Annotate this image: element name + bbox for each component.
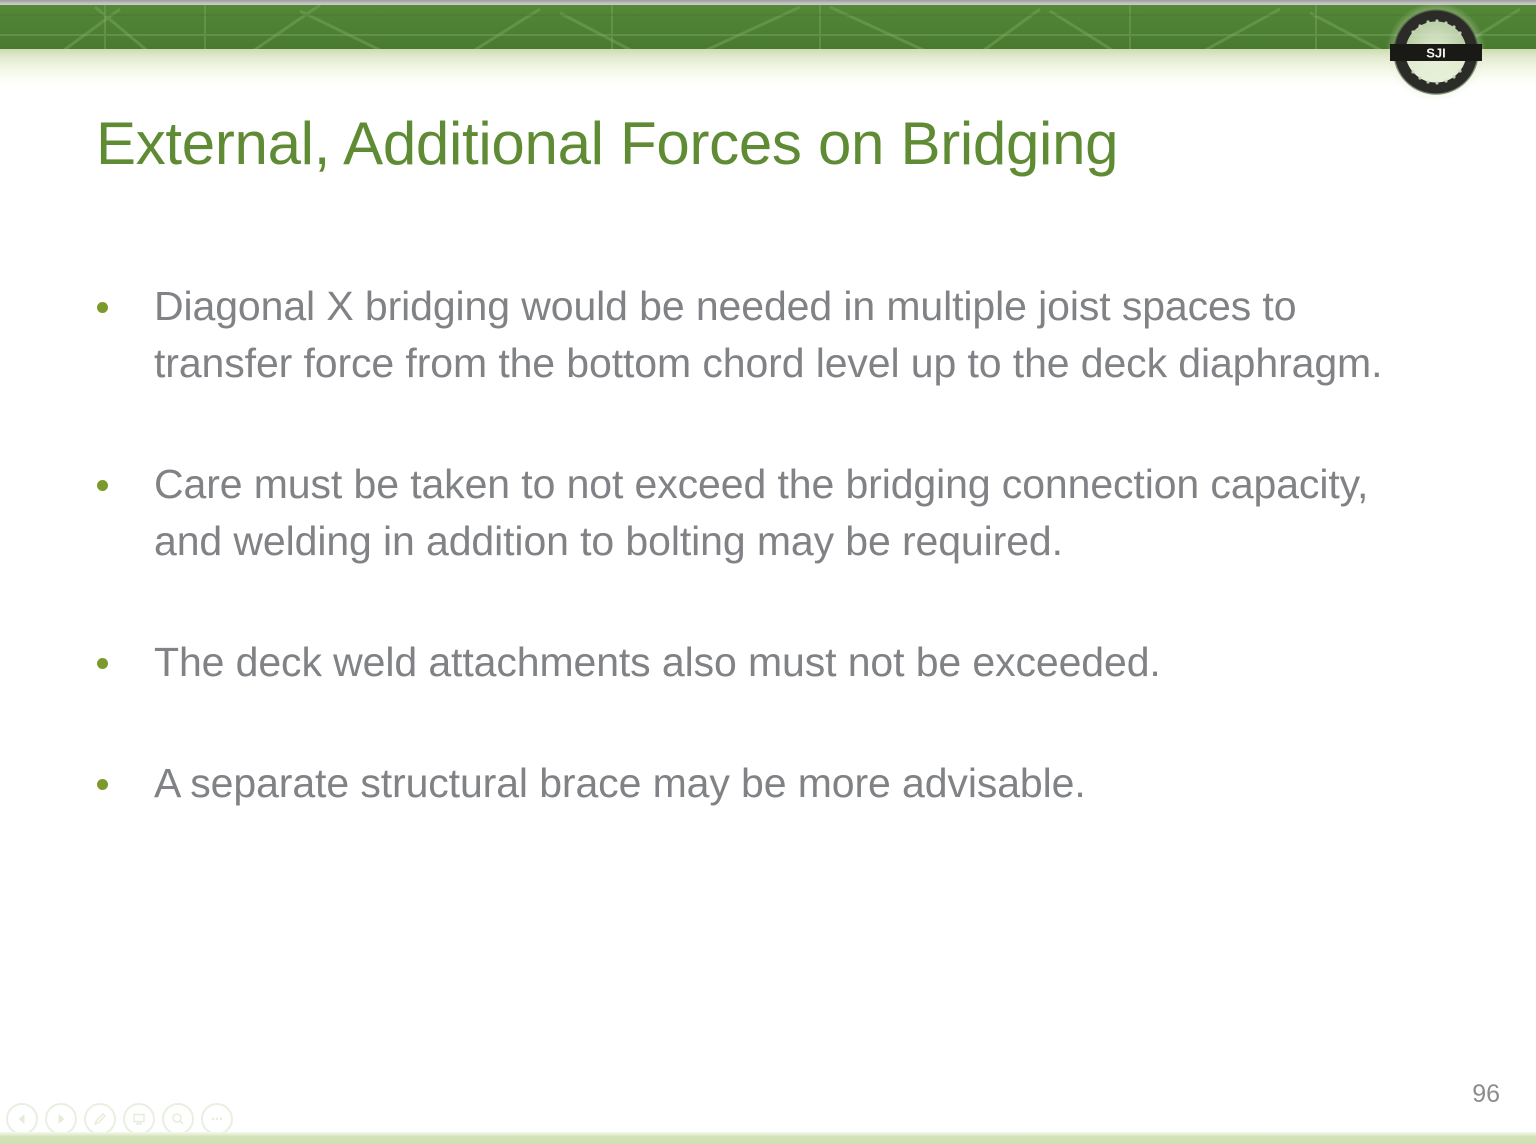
bullet-point-icon [88,456,154,496]
truss-pattern-texture [0,5,1536,49]
bottom-green-strip [0,1132,1536,1144]
page-number: 96 [1472,1080,1500,1109]
presentation-slide: SJI External, Additional Forces on Bridg… [0,0,1536,1144]
slide-controls-toolbar[interactable] [0,1102,233,1136]
next-slide-button[interactable] [45,1103,77,1135]
bullet-list: Diagonal X bridging would be needed in m… [88,278,1428,812]
previous-slide-button[interactable] [6,1103,38,1135]
pen-annotate-button[interactable] [84,1103,116,1135]
list-item: The deck weld attachments also must not … [88,634,1428,691]
list-item: Diagonal X bridging would be needed in m… [88,278,1428,392]
sji-seal-logo: SJI [1384,0,1488,104]
presenter-view-button[interactable] [123,1103,155,1135]
list-item: Care must be taken to not exceed the bri… [88,456,1428,570]
svg-text:SJI: SJI [1426,46,1446,61]
bullet-point-icon [88,278,154,318]
bullet-text: The deck weld attachments also must not … [154,634,1428,691]
more-options-button[interactable] [201,1103,233,1135]
bullet-point-icon [88,634,154,674]
header-green-band [0,5,1536,49]
bullet-text: Diagonal X bridging would be needed in m… [154,278,1428,392]
header-fade-gradient [0,49,1536,87]
page-title: External, Additional Forces on Bridging [96,108,1396,180]
bullet-text: A separate structural brace may be more … [154,755,1428,812]
magnifier-zoom-button[interactable] [162,1103,194,1135]
bullet-point-icon [88,755,154,795]
bullet-text: Care must be taken to not exceed the bri… [154,456,1428,570]
list-item: A separate structural brace may be more … [88,755,1428,812]
